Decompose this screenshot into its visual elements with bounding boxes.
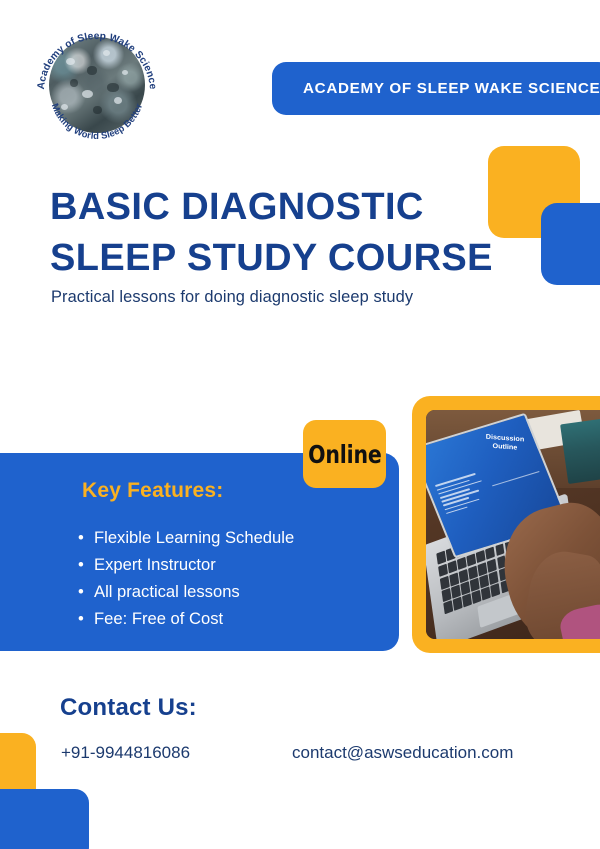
bullet-icon: • bbox=[78, 579, 84, 606]
online-badge-label: Online bbox=[308, 440, 382, 469]
page-title-line-1: BASIC DIAGNOSTIC bbox=[50, 182, 520, 233]
decorative-square-blue-bottom bbox=[0, 789, 89, 849]
key-features-list: • Flexible Learning Schedule • Expert In… bbox=[78, 525, 294, 633]
header-banner: ACADEMY OF SLEEP WAKE SCIENCE bbox=[272, 62, 600, 115]
course-poster: Academy of Sleep Wake Science Making Wor… bbox=[0, 0, 600, 849]
page-title: BASIC DIAGNOSTIC SLEEP STUDY COURSE bbox=[50, 182, 520, 284]
list-item: • Fee: Free of Cost bbox=[78, 606, 294, 633]
books-stack bbox=[560, 418, 600, 484]
list-item-label: All practical lessons bbox=[94, 582, 240, 601]
contact-heading: Contact Us: bbox=[60, 694, 197, 722]
online-badge: Online bbox=[303, 420, 386, 488]
list-item-label: Expert Instructor bbox=[94, 555, 216, 574]
svg-text:Academy of Sleep Wake Science: Academy of Sleep Wake Science bbox=[36, 31, 158, 90]
logo-bottom-arc-label: Making World Sleep Better bbox=[50, 102, 144, 141]
header-banner-label: ACADEMY OF SLEEP WAKE SCIENCE bbox=[303, 80, 600, 97]
contact-email[interactable]: contact@aswseducation.com bbox=[292, 743, 513, 763]
list-item-label: Fee: Free of Cost bbox=[94, 609, 223, 628]
bullet-icon: • bbox=[78, 552, 84, 579]
list-item: • Expert Instructor bbox=[78, 552, 294, 579]
logo-top-arc-label: Academy of Sleep Wake Science bbox=[36, 31, 158, 90]
page-title-line-2: SLEEP STUDY COURSE bbox=[50, 233, 520, 284]
decorative-square-blue-top bbox=[541, 203, 600, 285]
list-item-label: Flexible Learning Schedule bbox=[94, 528, 294, 547]
bullet-icon: • bbox=[78, 606, 84, 633]
laptop-screen-text-lines bbox=[435, 471, 494, 516]
list-item: • Flexible Learning Schedule bbox=[78, 525, 294, 552]
academy-logo: Academy of Sleep Wake Science Making Wor… bbox=[36, 24, 158, 146]
list-item: • All practical lessons bbox=[78, 579, 294, 606]
contact-phone[interactable]: +91-9944816086 bbox=[61, 743, 190, 763]
page-subtitle: Practical lessons for doing diagnostic s… bbox=[51, 288, 413, 307]
svg-text:Making World Sleep Better: Making World Sleep Better bbox=[50, 102, 144, 141]
bullet-icon: • bbox=[78, 525, 84, 552]
laptop-screen-heading: Discussion Outline bbox=[485, 432, 524, 453]
course-photo: Discussion Outline bbox=[426, 410, 600, 639]
key-features-heading: Key Features: bbox=[82, 479, 224, 503]
course-photo-card: Discussion Outline bbox=[412, 396, 600, 653]
laptop-screen-underline bbox=[492, 471, 539, 487]
logo-arc-text: Academy of Sleep Wake Science Making Wor… bbox=[36, 24, 158, 146]
